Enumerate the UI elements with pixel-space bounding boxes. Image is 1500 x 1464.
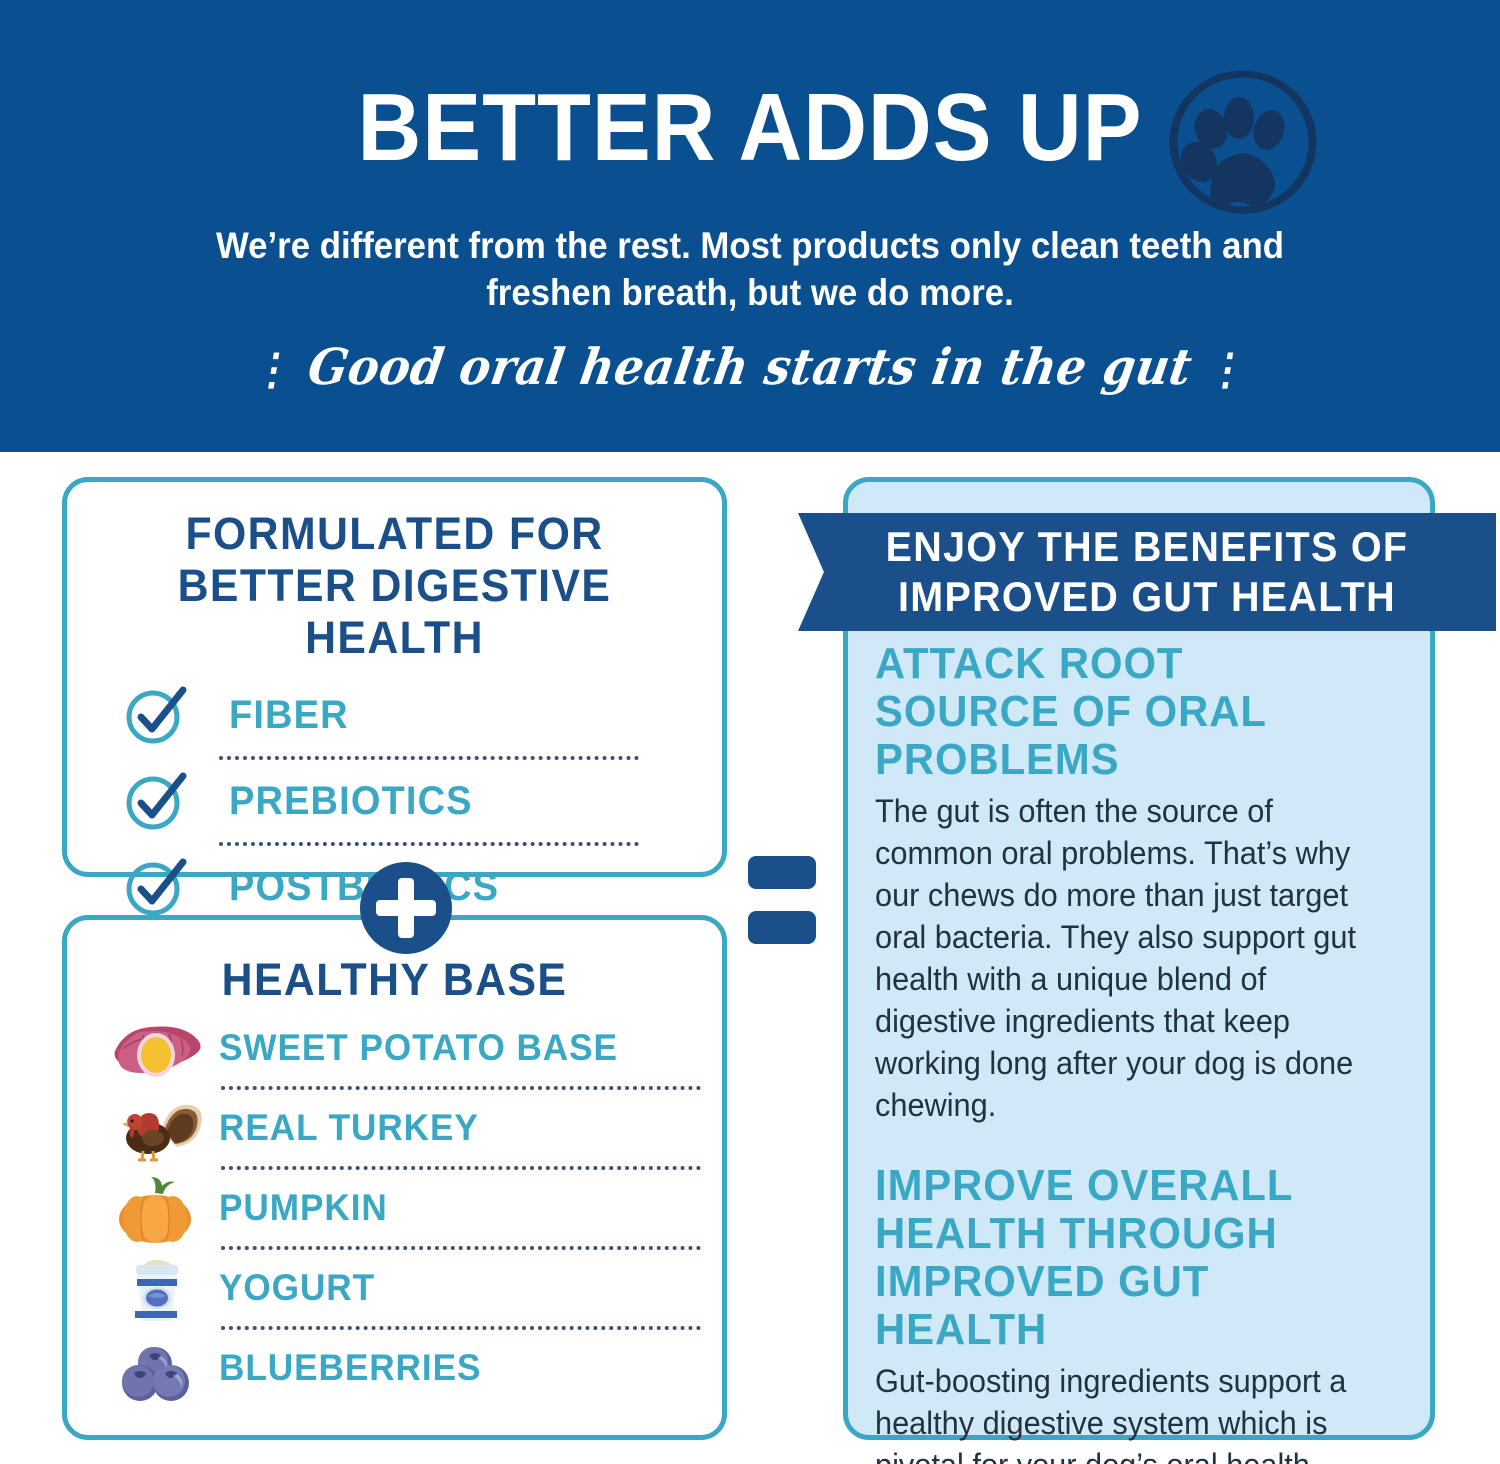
header-tagline: ⋮ Good oral health starts in the gut ⋮	[0, 333, 1500, 403]
equals-bar-top	[748, 856, 816, 889]
divider	[219, 842, 639, 846]
paw-print-icon	[1163, 62, 1323, 222]
tagline-deco-right: ⋮	[1204, 346, 1250, 394]
divider	[221, 1326, 701, 1330]
list-item-label: PREBIOTICS	[229, 779, 473, 824]
formulated-card-title: FORMULATED FOR BETTER DIGESTIVE HEALTH	[83, 482, 705, 664]
list-item-label: BLUEBERRIES	[219, 1347, 481, 1389]
tagline-deco-left: ⋮	[250, 346, 296, 394]
list-item-label: FIBER	[229, 693, 349, 738]
healthy-base-list: SWEET POTATO BASE	[67, 1006, 722, 1406]
check-circle-icon	[121, 856, 195, 918]
list-item-label: REAL TURKEY	[219, 1107, 479, 1149]
blueberries-icon	[109, 1331, 205, 1405]
list-item: YOGURT	[91, 1250, 698, 1326]
infographic-page: BETTER ADDS UP We’re different from the …	[0, 0, 1500, 1464]
benefit-block: ATTACK ROOT SOURCE OF ORAL PROBLEMS The …	[875, 640, 1405, 1126]
benefit-body: Gut-boosting ingredients support a healt…	[875, 1360, 1384, 1464]
yogurt-cup-icon	[109, 1251, 205, 1325]
list-item: FIBER	[93, 674, 696, 756]
list-item: BLUEBERRIES	[91, 1330, 698, 1406]
list-item: PREBIOTICS	[93, 760, 696, 842]
tagline-text: Good oral health starts in the gut	[304, 338, 1196, 396]
divider	[219, 756, 639, 760]
divider	[221, 1086, 701, 1090]
benefit-heading: IMPROVE OVERALL HEALTH THROUGH IMPROVED …	[875, 1162, 1379, 1354]
equals-icon	[748, 856, 816, 952]
header-subtitle: We’re different from the rest. Most prod…	[186, 222, 1314, 316]
benefits-content: ATTACK ROOT SOURCE OF ORAL PROBLEMS The …	[875, 640, 1405, 1464]
benefit-heading: ATTACK ROOT SOURCE OF ORAL PROBLEMS	[875, 640, 1379, 784]
check-circle-icon	[121, 684, 195, 746]
list-item: REAL TURKEY	[91, 1090, 698, 1166]
check-circle-icon	[121, 770, 195, 832]
benefit-body: The gut is often the source of common or…	[875, 790, 1384, 1126]
pumpkin-icon	[109, 1171, 205, 1245]
divider	[221, 1246, 701, 1250]
list-item-label: SWEET POTATO BASE	[219, 1027, 618, 1069]
list-item: PUMPKIN	[91, 1170, 698, 1246]
turkey-icon	[109, 1091, 205, 1165]
list-item-label: YOGURT	[219, 1267, 375, 1309]
header-banner: BETTER ADDS UP We’re different from the …	[0, 0, 1500, 452]
healthy-base-card: HEALTHY BASE SW	[62, 915, 727, 1440]
formulated-card: FORMULATED FOR BETTER DIGESTIVE HEALTH F…	[62, 477, 727, 877]
divider	[221, 1166, 701, 1170]
list-item: SWEET POTATO BASE	[91, 1010, 698, 1086]
benefits-ribbon-title: ENJOY THE BENEFITS OF IMPROVED GUT HEALT…	[819, 522, 1475, 622]
equals-bar-bottom	[748, 911, 816, 944]
list-item-label: PUMPKIN	[219, 1187, 388, 1229]
plus-circle-icon	[360, 862, 452, 954]
benefits-ribbon: ENJOY THE BENEFITS OF IMPROVED GUT HEALT…	[798, 513, 1496, 631]
sweet-potato-icon	[109, 1011, 205, 1085]
benefit-block: IMPROVE OVERALL HEALTH THROUGH IMPROVED …	[875, 1162, 1405, 1464]
